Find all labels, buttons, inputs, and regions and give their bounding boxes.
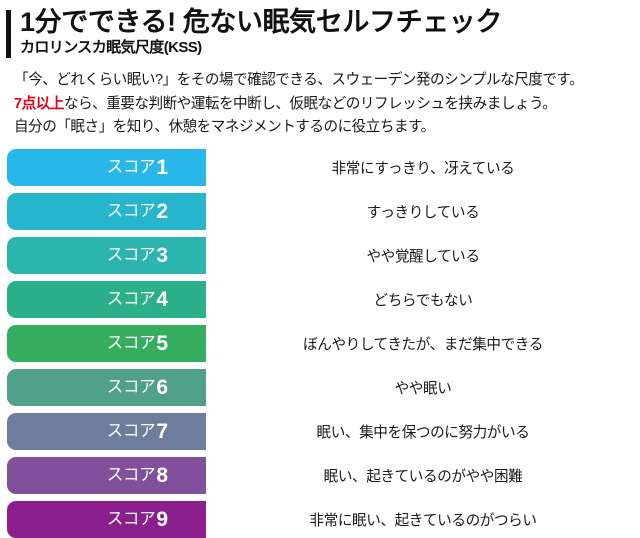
score-pill-label: スコア [107,203,156,220]
score-pill-1: スコア1 [7,149,206,186]
score-scale-table: スコア1非常にすっきり、冴えているスコア2すっきりしているスコア3やや覚醒してい… [0,149,640,538]
score-pill-number: 5 [156,333,168,354]
score-pill-number: 7 [156,421,168,442]
score-pill-label: スコア [107,159,156,176]
score-pill-number: 2 [156,201,168,222]
score-pill-number: 9 [156,509,168,530]
score-description: 眠い、起きているのがやや困難 [206,465,640,486]
score-row: スコア4どちらでもない [0,281,640,318]
score-description: やや覚醒している [206,245,640,266]
score-pill-number: 4 [156,289,168,310]
score-description: 非常に眠い、起きているのがつらい [206,509,640,530]
description-line-2: 7点以上なら、重要な判断や運転を中断し、仮眠などのリフレッシュを挟みましょう。 [14,93,640,117]
score-row: スコア5ぼんやりしてきたが、まだ集中できる [0,325,640,362]
title-row: 1分でできる! 危ない眠気セルフチェック カロリンスカ眠気尺度(KSS) [0,8,640,58]
score-description: ぼんやりしてきたが、まだ集中できる [206,333,640,354]
description-line-3: 自分の「眠さ」を知り、休憩をマネジメントするのに役立ちます。 [14,116,640,140]
score-pill-number: 6 [156,377,168,398]
score-row: スコア9非常に眠い、起きているのがつらい [0,501,640,538]
score-row: スコア3やや覚醒している [0,237,640,274]
score-row: スコア8眠い、起きているのがやや困難 [0,457,640,494]
score-pill-label: スコア [107,423,156,440]
score-pill-label: スコア [107,247,156,264]
score-pill-2: スコア2 [7,193,206,230]
score-pill-3: スコア3 [7,237,206,274]
threshold-highlight: 7点以上 [14,96,64,112]
score-description: やや眠い [206,377,640,398]
score-pill-9: スコア9 [7,501,206,538]
score-pill-7: スコア7 [7,413,206,450]
score-pill-label: スコア [107,467,156,484]
score-pill-8: スコア8 [7,457,206,494]
score-row: スコア2すっきりしている [0,193,640,230]
score-pill-number: 3 [156,245,168,266]
score-pill-number: 1 [156,157,168,178]
title-block: 1分でできる! 危ない眠気セルフチェック カロリンスカ眠気尺度(KSS) [11,8,502,57]
header: 1分でできる! 危ない眠気セルフチェック カロリンスカ眠気尺度(KSS) [0,0,640,58]
score-row: スコア7眠い、集中を保つのに努力がいる [0,413,640,450]
score-pill-number: 8 [156,465,168,486]
page-title: 1分でできる! 危ない眠気セルフチェック [20,8,502,37]
description-line-2-rest: なら、重要な判断や運転を中断し、仮眠などのリフレッシュを挟みましょう。 [64,96,556,112]
description-line-1: 「今、どれくらい眠い?」をその場で確認できる、スウェーデン発のシンプルな尺度です… [14,69,640,93]
score-pill-label: スコア [107,291,156,308]
page-subtitle: カロリンスカ眠気尺度(KSS) [20,39,502,57]
score-row: スコア6やや眠い [0,369,640,406]
description-block: 「今、どれくらい眠い?」をその場で確認できる、スウェーデン発のシンプルな尺度です… [0,69,640,140]
score-pill-label: スコア [107,379,156,396]
score-description: どちらでもない [206,289,640,310]
score-description: 非常にすっきり、冴えている [206,157,640,178]
score-description: すっきりしている [206,201,640,222]
score-pill-label: スコア [107,335,156,352]
score-pill-label: スコア [107,511,156,528]
score-pill-5: スコア5 [7,325,206,362]
score-row: スコア1非常にすっきり、冴えている [0,149,640,186]
score-pill-6: スコア6 [7,369,206,406]
score-description: 眠い、集中を保つのに努力がいる [206,421,640,442]
score-pill-4: スコア4 [7,281,206,318]
